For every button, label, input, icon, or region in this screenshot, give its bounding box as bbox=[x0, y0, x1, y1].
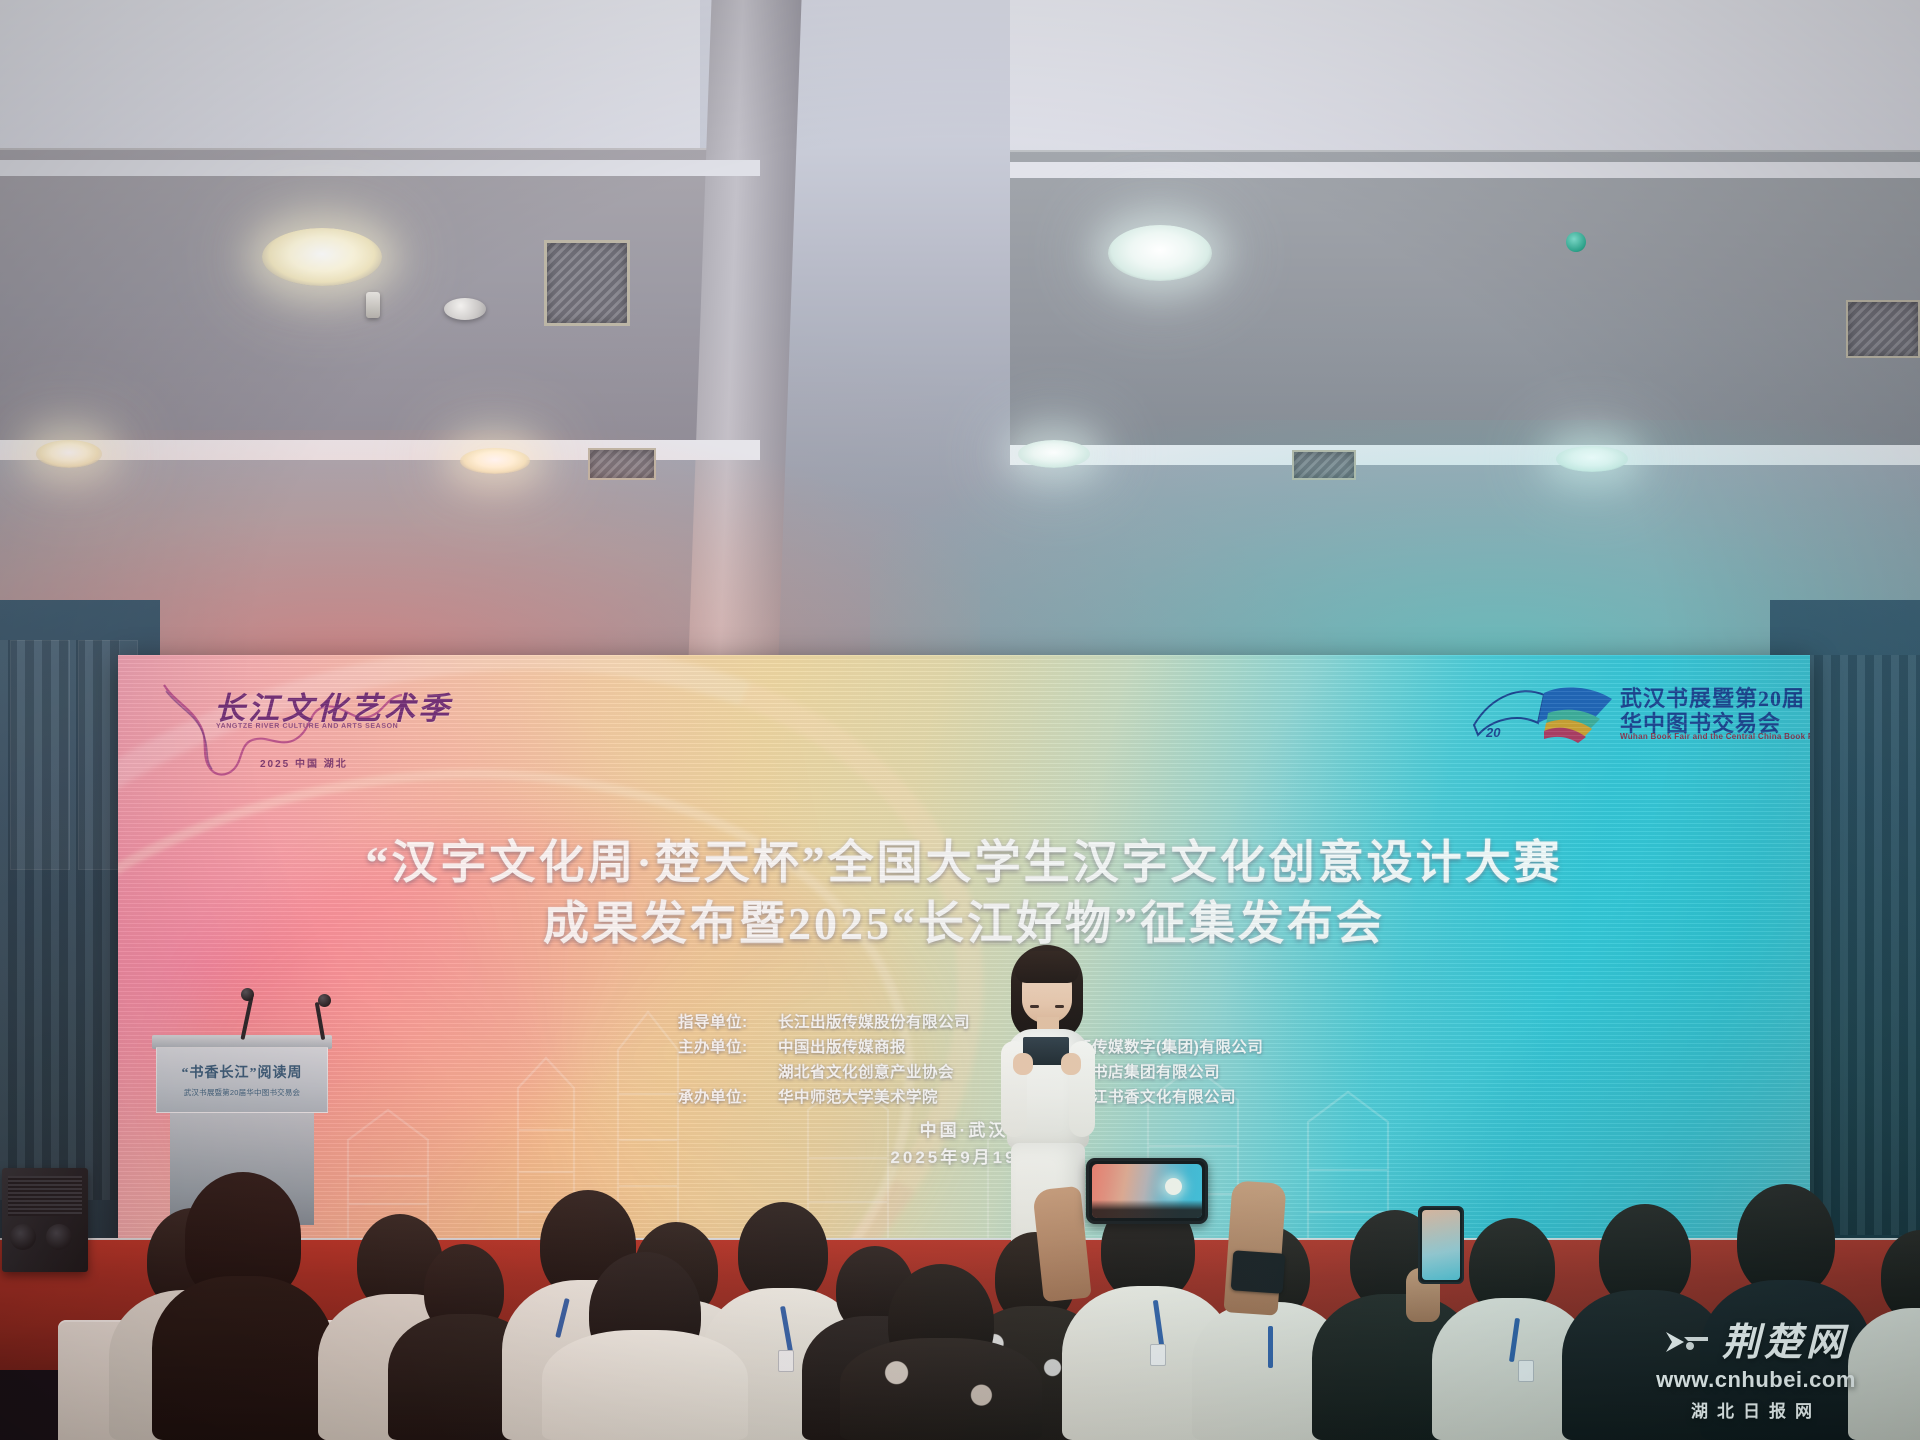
phone-screen-audience bbox=[1092, 1200, 1202, 1218]
name-badge bbox=[1518, 1360, 1534, 1382]
name-badge bbox=[778, 1350, 794, 1372]
air-vent-icon bbox=[1846, 300, 1920, 358]
smartphone-recording[interactable] bbox=[1086, 1158, 1208, 1224]
indicator-light-icon bbox=[1566, 232, 1586, 252]
yangtze-culture-season-logo: 长江文化艺术季 YANGTZE RIVER CULTURE AND ARTS S… bbox=[156, 677, 486, 787]
smoke-detector-icon bbox=[444, 298, 486, 320]
ceiling-panel-bright-right bbox=[1010, 0, 1920, 155]
audience-body bbox=[542, 1330, 748, 1440]
air-vent-icon bbox=[544, 240, 630, 326]
audience-body bbox=[152, 1276, 334, 1440]
sprinkler-icon bbox=[366, 292, 380, 318]
presenter-eye bbox=[1030, 1005, 1039, 1008]
phone-screen-moon bbox=[1165, 1178, 1182, 1195]
phone-screen bbox=[1422, 1210, 1460, 1280]
ceiling bbox=[0, 0, 1920, 660]
audience-member-front bbox=[540, 1252, 750, 1440]
microphone-icon bbox=[318, 994, 331, 1007]
photograph-scene: 长江文化艺术季 YANGTZE RIVER CULTURE AND ARTS S… bbox=[0, 0, 1920, 1440]
fair-logo-edition: 20 bbox=[1486, 725, 1500, 740]
season-logo-year: 2025 中国 湖北 bbox=[260, 755, 348, 770]
smartphone-recording[interactable] bbox=[1418, 1206, 1464, 1284]
season-logo-title: 长江文化艺术季 bbox=[214, 683, 452, 728]
downlight-icon bbox=[1108, 225, 1212, 281]
audience-member bbox=[1846, 1230, 1920, 1440]
name-badge bbox=[1150, 1344, 1166, 1366]
audience-body bbox=[840, 1338, 1042, 1440]
wuhan-book-fair-logo: 20 武汉书展暨第20届 华中图书交易会 Wuhan Book Fair and… bbox=[1468, 673, 1768, 765]
ceiling-panel-bright-left bbox=[0, 0, 700, 150]
open-book-icon bbox=[1468, 679, 1618, 753]
presenter-eye bbox=[1055, 1005, 1064, 1008]
audience bbox=[0, 1010, 1920, 1440]
hand-right bbox=[1223, 1180, 1286, 1315]
downlight-icon bbox=[262, 228, 382, 286]
fair-logo-english: Wuhan Book Fair and the Central China Bo… bbox=[1620, 732, 1810, 741]
smartwatch bbox=[1231, 1250, 1286, 1294]
ceiling-slab-right bbox=[1010, 150, 1920, 450]
phone-screen bbox=[1092, 1164, 1202, 1218]
audience-member-front bbox=[838, 1264, 1044, 1440]
ceiling-slab-left bbox=[0, 148, 760, 448]
stage-glow-cool bbox=[870, 420, 1920, 660]
season-logo-subtitle: YANGTZE RIVER CULTURE AND ARTS SEASON bbox=[216, 723, 398, 731]
audience-member bbox=[150, 1172, 336, 1440]
microphone-icon bbox=[241, 988, 254, 1001]
ceiling-reveal-right bbox=[1010, 162, 1920, 178]
presenter-fringe bbox=[1015, 951, 1079, 983]
audience-body bbox=[1848, 1308, 1920, 1440]
lanyard bbox=[1268, 1326, 1273, 1368]
ceiling-reveal-left bbox=[0, 160, 760, 176]
